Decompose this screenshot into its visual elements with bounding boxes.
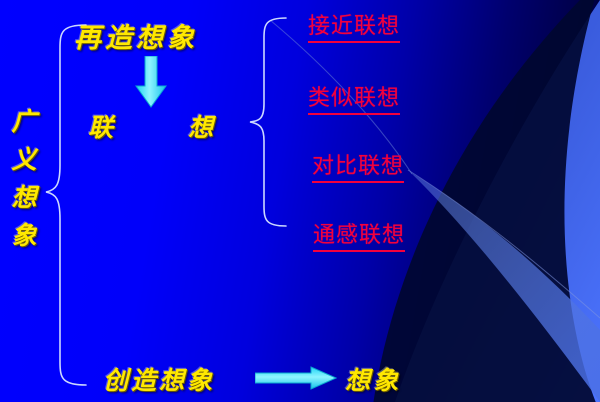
down-arrow-icon — [134, 56, 168, 108]
slide-canvas: 广 义 想 象 再造想象 联 想 接近联想 类似联想 对比联想 通感联想 创造想… — [0, 0, 600, 402]
left-group-label-char: 象 — [11, 217, 36, 255]
branch-item-3: 对比联想 — [312, 148, 404, 183]
branch-item-1: 接近联想 — [308, 8, 400, 43]
top-branch-result-right: 想 — [188, 108, 215, 144]
left-group-label-char: 想 — [11, 179, 36, 217]
branch-item-2: 类似联想 — [308, 80, 400, 115]
background-swoosh-decoration — [0, 0, 600, 402]
top-branch-result-left: 联 — [88, 108, 115, 144]
left-curly-brace — [46, 25, 86, 385]
right-arrow-icon — [255, 366, 337, 390]
branch-item-4: 通感联想 — [313, 217, 405, 252]
left-group-label-char: 广 — [11, 103, 36, 141]
left-group-label-char: 义 — [11, 141, 36, 179]
top-branch-heading: 再造想象 — [74, 16, 198, 55]
bottom-branch-target: 想象 — [345, 361, 401, 397]
bottom-branch-source: 创造想象 — [103, 361, 215, 397]
left-group-label: 广 义 想 象 — [4, 103, 44, 255]
